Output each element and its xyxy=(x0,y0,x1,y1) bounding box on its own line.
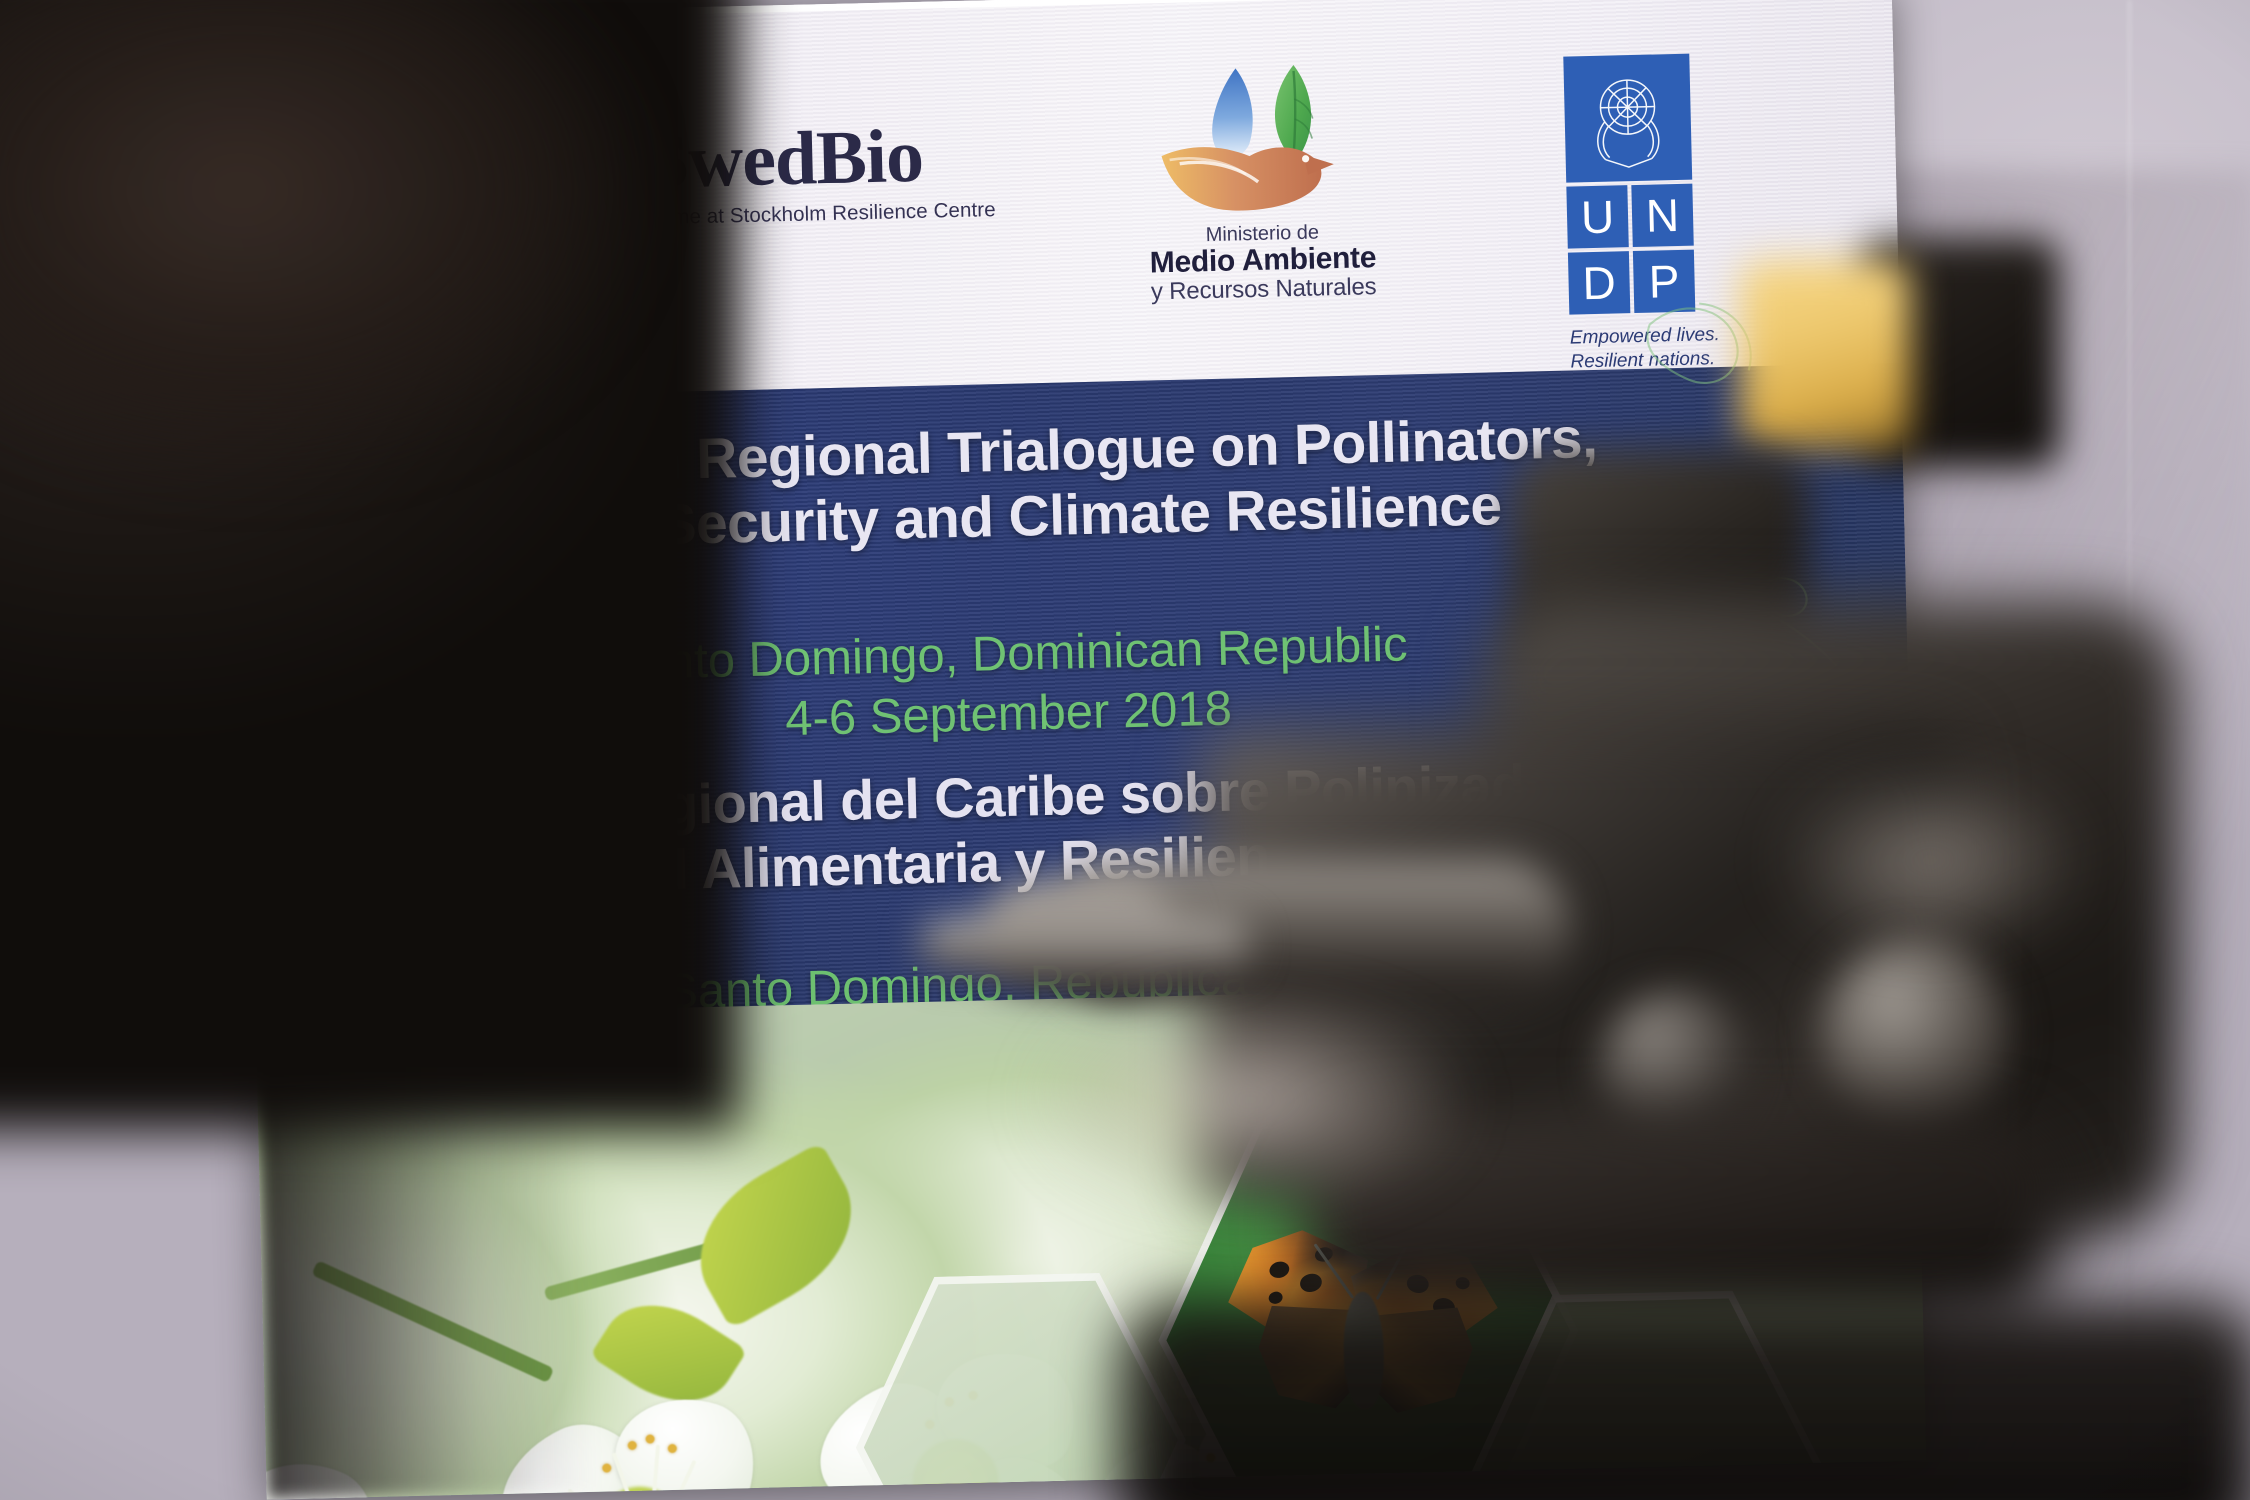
un-emblem-icon xyxy=(1563,54,1692,183)
logo-undp: U N D P Empowered lives. Resilient natio… xyxy=(1563,51,1820,374)
tortoiseshell-butterfly-on-red-flower-photo xyxy=(1222,1222,1507,1429)
photo-scene: SwedBio A programme at Stockholm Resilie… xyxy=(0,0,2250,1500)
undp-letter-u: U xyxy=(1566,185,1628,248)
logo-ministry-medio-ambiente: Ministerio de Medio Ambiente y Recursos … xyxy=(1113,58,1409,305)
undp-tagline: Empowered lives. Resilient nations. xyxy=(1570,321,1821,374)
undp-letter-p: P xyxy=(1633,250,1695,313)
wall-corner-seam xyxy=(2128,0,2131,1500)
wall-shadow xyxy=(1880,170,2250,1500)
undp-letter-d: D xyxy=(1568,251,1630,314)
foreground-dark-mass-highlight xyxy=(0,0,640,520)
undp-letter-n: N xyxy=(1631,184,1693,247)
dove-leaf-waterdrop-icon xyxy=(1143,59,1377,224)
undp-letter-grid: U N D P xyxy=(1566,184,1695,315)
